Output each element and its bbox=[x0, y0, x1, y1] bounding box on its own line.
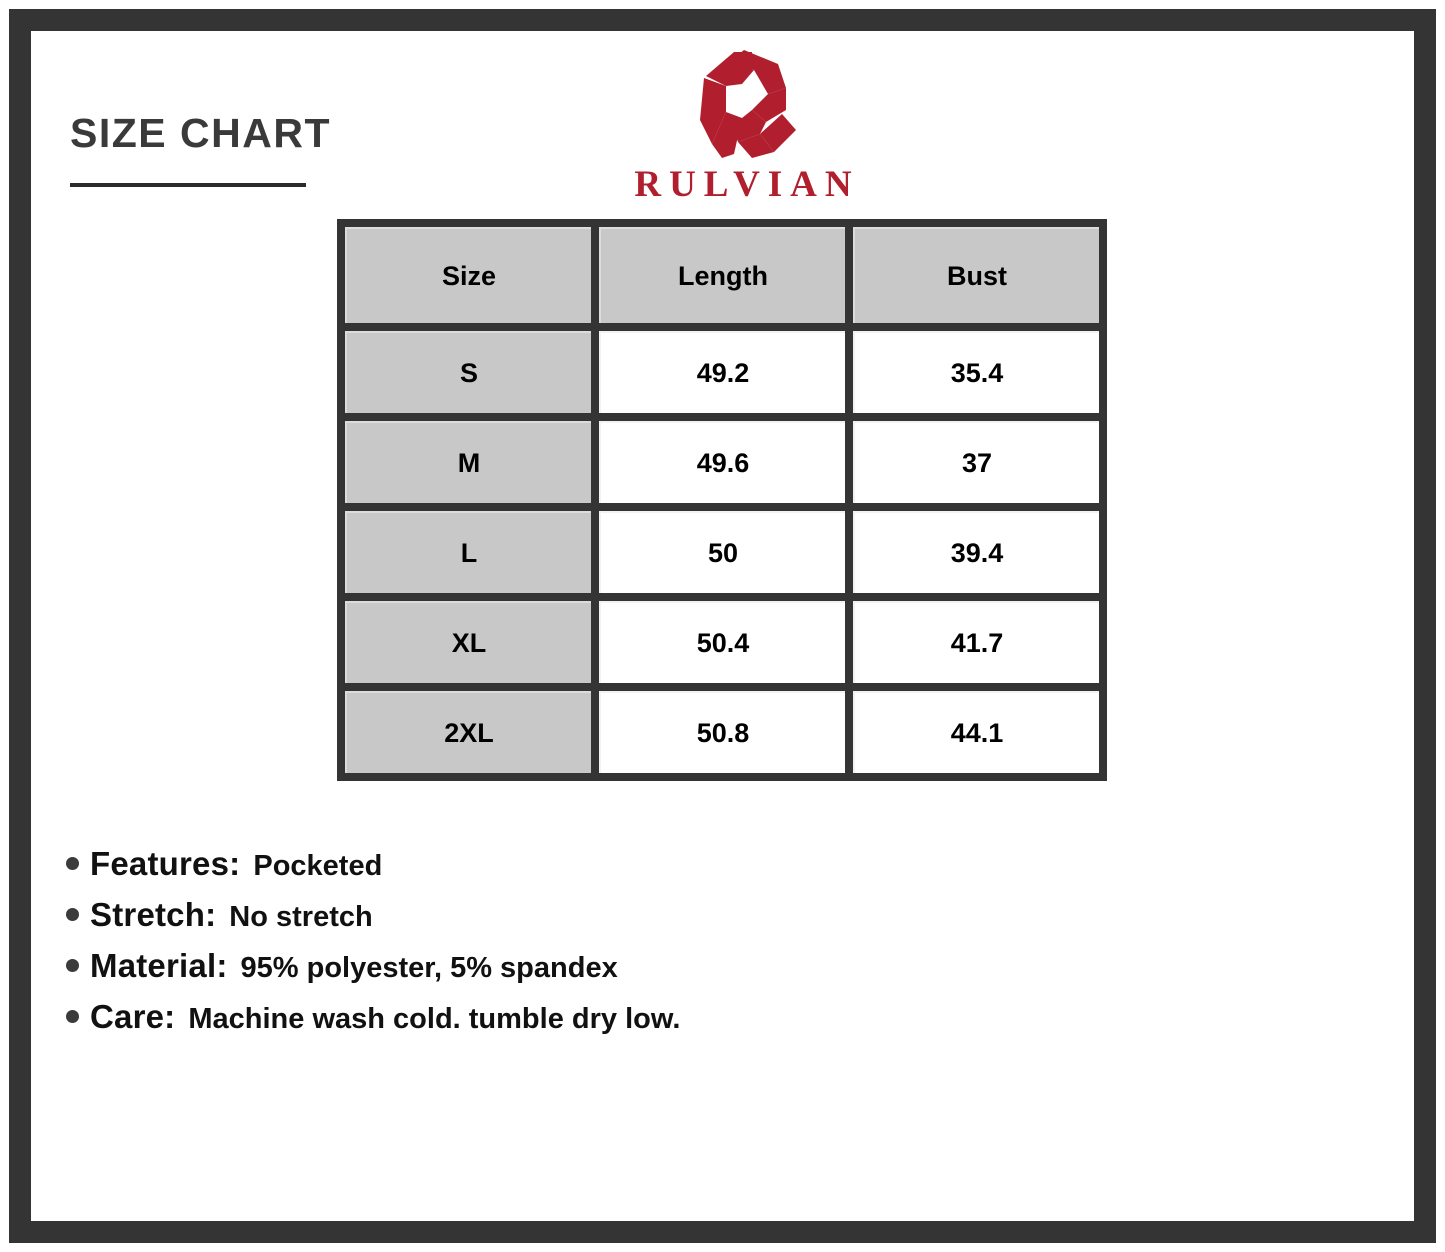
bullet-icon bbox=[66, 1010, 79, 1023]
size-table: Size Length Bust S 49.2 35.4 M 49.6 37 bbox=[337, 219, 1107, 781]
bullet-icon bbox=[66, 908, 79, 921]
column-header-bust: Bust bbox=[853, 227, 1099, 323]
table-row: S 49.2 35.4 bbox=[345, 331, 1099, 413]
cell-bust: 41.7 bbox=[853, 601, 1099, 683]
bullet-icon bbox=[66, 857, 79, 870]
table-row: L 50 39.4 bbox=[345, 511, 1099, 593]
spec-label-stretch: Stretch: bbox=[90, 896, 216, 935]
title-underline bbox=[70, 183, 306, 187]
list-item: Material: 95% polyester, 5% spandex bbox=[66, 947, 1066, 986]
rulvian-r-monogram-icon bbox=[682, 48, 804, 160]
spec-value-stretch: No stretch bbox=[229, 900, 372, 934]
column-header-size: Size bbox=[345, 227, 591, 323]
spec-value-material: 95% polyester, 5% spandex bbox=[241, 951, 618, 985]
spec-value-care: Machine wash cold. tumble dry low. bbox=[188, 1002, 680, 1036]
brand-logo: RULVIAN bbox=[598, 48, 888, 203]
table-row: XL 50.4 41.7 bbox=[345, 601, 1099, 683]
cell-size: XL bbox=[345, 601, 591, 683]
column-header-length: Length bbox=[599, 227, 845, 323]
spec-value-features: Pocketed bbox=[253, 849, 382, 883]
page-content: SIZE CHART RULVIAN bbox=[0, 0, 1445, 1252]
brand-wordmark: RULVIAN bbox=[598, 166, 888, 203]
bullet-icon bbox=[66, 959, 79, 972]
list-item: Features: Pocketed bbox=[66, 845, 1066, 884]
size-chart-page: SIZE CHART RULVIAN bbox=[0, 0, 1445, 1252]
cell-length: 50.8 bbox=[599, 691, 845, 773]
cell-length: 50 bbox=[599, 511, 845, 593]
cell-bust: 39.4 bbox=[853, 511, 1099, 593]
cell-size: 2XL bbox=[345, 691, 591, 773]
cell-bust: 44.1 bbox=[853, 691, 1099, 773]
cell-bust: 35.4 bbox=[853, 331, 1099, 413]
table-header-row: Size Length Bust bbox=[345, 227, 1099, 323]
spec-label-features: Features: bbox=[90, 845, 240, 884]
spec-label-care: Care: bbox=[90, 998, 175, 1037]
cell-size: M bbox=[345, 421, 591, 503]
product-spec-list: Features: Pocketed Stretch: No stretch M… bbox=[66, 845, 1066, 1049]
spec-label-material: Material: bbox=[90, 947, 228, 986]
cell-length: 49.2 bbox=[599, 331, 845, 413]
cell-size: L bbox=[345, 511, 591, 593]
cell-length: 50.4 bbox=[599, 601, 845, 683]
cell-size: S bbox=[345, 331, 591, 413]
list-item: Stretch: No stretch bbox=[66, 896, 1066, 935]
cell-bust: 37 bbox=[853, 421, 1099, 503]
cell-length: 49.6 bbox=[599, 421, 845, 503]
size-table-container: Size Length Bust S 49.2 35.4 M 49.6 37 bbox=[337, 219, 1107, 781]
table-row: M 49.6 37 bbox=[345, 421, 1099, 503]
list-item: Care: Machine wash cold. tumble dry low. bbox=[66, 998, 1066, 1037]
page-title: SIZE CHART bbox=[70, 113, 331, 154]
table-row: 2XL 50.8 44.1 bbox=[345, 691, 1099, 773]
